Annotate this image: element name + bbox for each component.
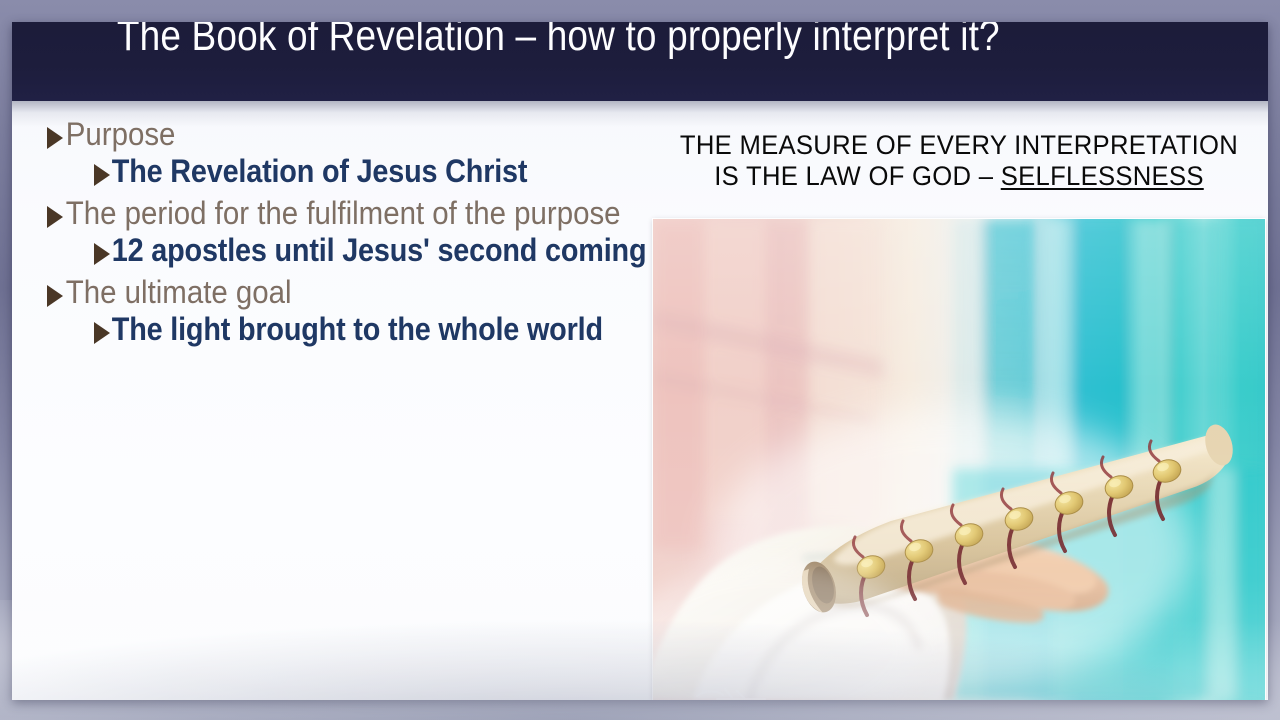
caption-line-2-prefix: IS THE LAW OF GOD –: [714, 161, 1000, 191]
triangle-bullet-icon: [47, 285, 63, 307]
bullet-label: Purpose: [63, 118, 175, 152]
bullet-label: The period for the fulfilment of the pur…: [63, 197, 621, 231]
bullet-item-level1: The ultimate goal: [47, 276, 646, 310]
bullet-item-level2: 12 apostles until Jesus' second coming: [94, 234, 646, 268]
bullet-label: The Revelation of Jesus Christ: [110, 155, 527, 189]
bullet-item-level2: The Revelation of Jesus Christ: [94, 155, 646, 189]
triangle-bullet-icon: [47, 127, 63, 149]
bullet-label: 12 apostles until Jesus' second coming: [110, 234, 646, 268]
bullet-item-level2: The light brought to the whole world: [94, 313, 646, 347]
caption-line-1: THE MEASURE OF EVERY INTERPRETATION: [668, 130, 1249, 161]
slide-title: The Book of Revelation – how to properly…: [45, 36, 1072, 85]
scroll-illustration: [653, 219, 1265, 700]
image-caption: THE MEASURE OF EVERY INTERPRETATION IS T…: [653, 130, 1265, 193]
triangle-bullet-icon: [94, 322, 110, 344]
bullet-item-level1: The period for the fulfilment of the pur…: [47, 197, 646, 231]
caption-emphasis: SELFLESSNESS: [1001, 161, 1204, 191]
slide: The Book of Revelation – how to properly…: [12, 22, 1268, 700]
bullet-label: The ultimate goal: [63, 276, 292, 310]
slide-title-text: The Book of Revelation – how to properly…: [117, 22, 1000, 61]
triangle-bullet-icon: [47, 206, 63, 228]
bullet-list: Purpose The Revelation of Jesus Christ T…: [36, 110, 646, 346]
triangle-bullet-icon: [94, 164, 110, 186]
bullet-item-level1: Purpose: [47, 118, 646, 152]
slide-title-bar: The Book of Revelation – how to properly…: [12, 22, 1268, 101]
caption-line-2: IS THE LAW OF GOD – SELFLESSNESS: [668, 161, 1249, 192]
scroll-with-seven-seals-image: [653, 219, 1265, 700]
triangle-bullet-icon: [94, 243, 110, 265]
bullet-label: The light brought to the whole world: [110, 313, 603, 347]
presentation-viewer: The Book of Revelation – how to properly…: [0, 0, 1280, 720]
